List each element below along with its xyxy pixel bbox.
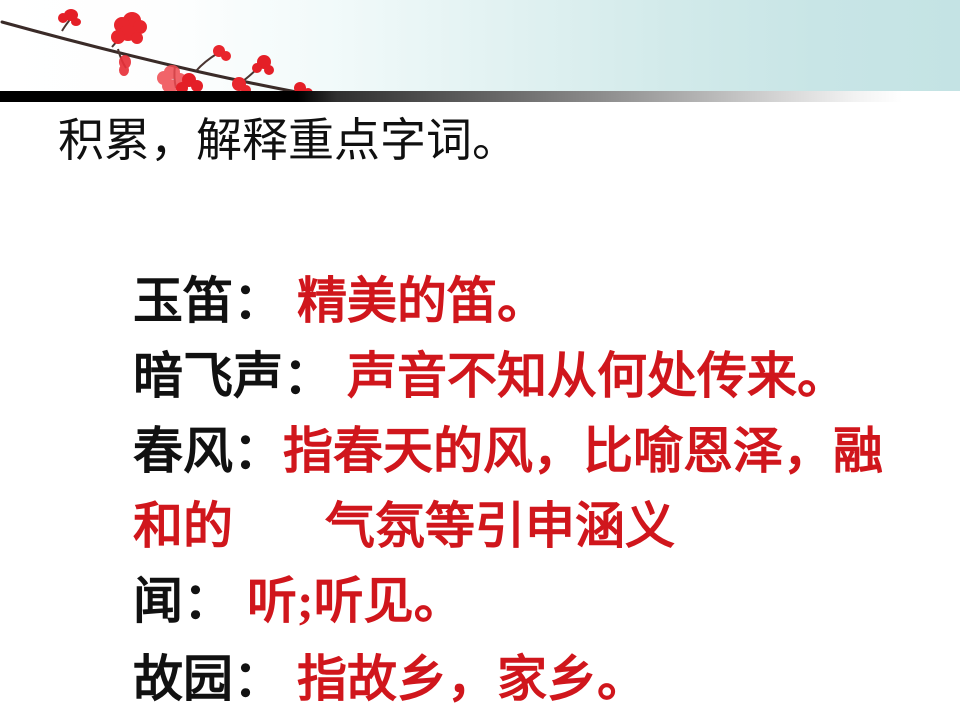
slide-canvas: 积累，解释重点字词。 玉笛：精美的笛。 暗飞声：声音不知从何处传来。 春风：指春…: [0, 0, 960, 720]
definition-gloss: 指故乡，家乡。: [297, 651, 647, 707]
definition-term: 故园：: [133, 651, 283, 707]
header-band: [0, 0, 960, 91]
slide-content: 积累，解释重点字词。 玉笛：精美的笛。 暗飞声：声音不知从何处传来。 春风：指春…: [0, 102, 960, 720]
plum-blossom-branch-icon: [0, 0, 330, 95]
page-title: 积累，解释重点字词。: [58, 118, 518, 164]
header-divider-rule: [0, 91, 960, 102]
definition-row-guyuan: 故园：指故乡，家乡。: [58, 604, 647, 720]
